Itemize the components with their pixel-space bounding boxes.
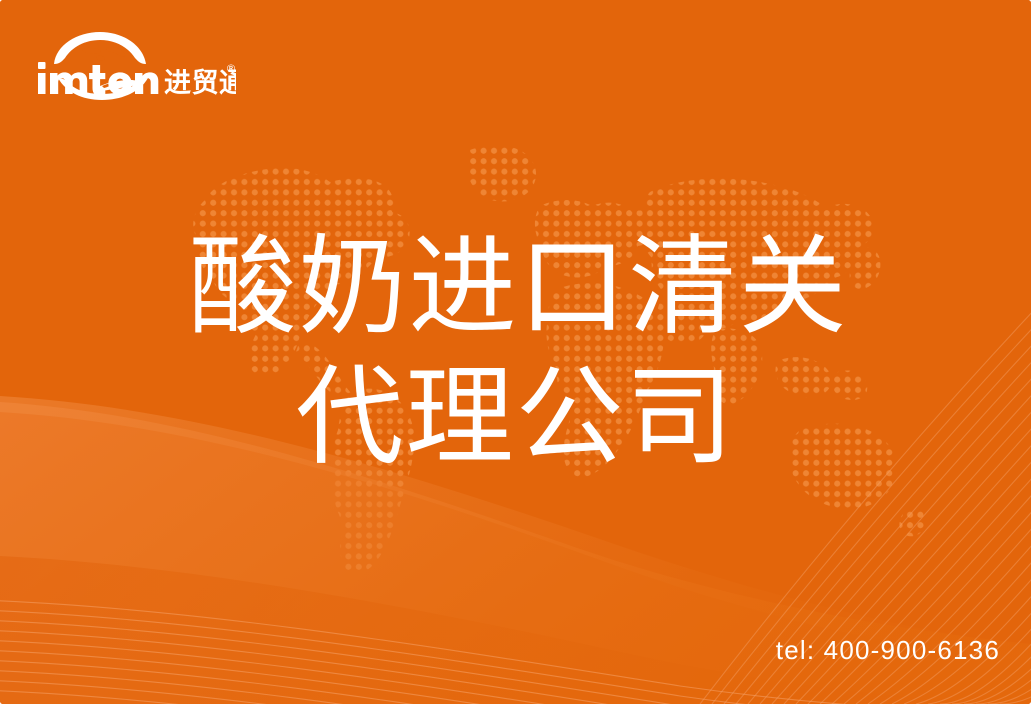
registered-trademark-icon: ® xyxy=(226,62,237,75)
contact-phone[interactable]: tel: 400-900-6136 xyxy=(776,635,1000,666)
globe-arc-icon xyxy=(54,32,146,64)
promo-banner: 进贸通 ® 酸奶进口清关 代理公司 tel: 400-900-6136 xyxy=(0,0,1031,704)
brand-logo[interactable]: 进贸通 ® xyxy=(36,28,236,102)
headline-line-1: 酸奶进口清关 xyxy=(0,222,1031,352)
headline-line-2: 代理公司 xyxy=(0,352,1031,482)
page-title: 酸奶进口清关 代理公司 xyxy=(0,222,1031,482)
logo-wordmark-chinese: 进贸通 ® xyxy=(164,62,236,99)
logo-wordmark-latin xyxy=(38,62,158,96)
